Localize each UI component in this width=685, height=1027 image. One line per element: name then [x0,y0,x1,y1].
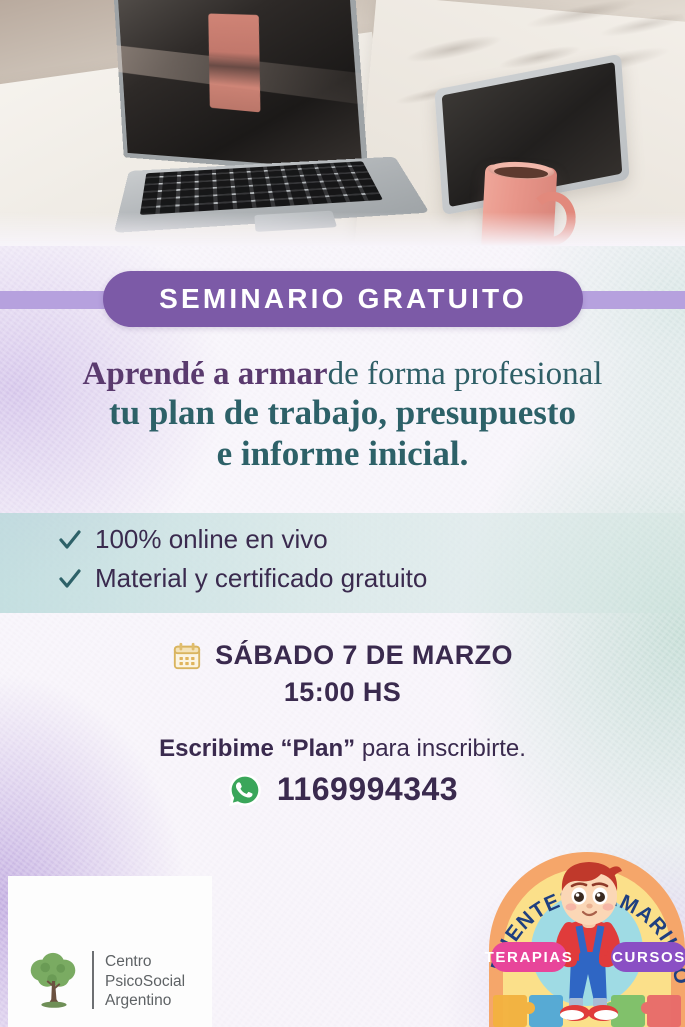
whatsapp-row[interactable]: 1169994343 [0,771,685,808]
check-icon [58,528,82,552]
check-icon [58,567,82,591]
feature-label: 100% online en vivo [95,524,328,555]
whatsapp-icon[interactable] [227,772,263,808]
logo-line-1: Centro [105,952,185,972]
headline-line-2: tu plan de trabajo, presupuesto [0,393,685,434]
list-item: 100% online en vivo [58,524,427,555]
contact-block: Escribime “Plan” para inscribirte. 11699… [0,735,685,808]
photo-fade [0,212,685,246]
time-label: 15:00 HS [0,677,685,708]
poster-root: SEMINARIO GRATUITO Aprendé a armarde for… [0,0,685,1027]
laptop-screen-content [208,13,260,112]
logo-wordmark: Centro PsicoSocial Argentino [105,952,185,1011]
headline-bold-part: Aprendé a armar [83,356,328,392]
tree-icon [22,949,84,1011]
puentes-amarillos-badge: PUENTES AMARILLOS [483,838,685,1027]
logo-line-2: PsicoSocial [105,972,185,992]
headline-line-3: e informe inicial. [0,434,685,475]
headline-block: Aprendé a armarde forma profesional tu p… [0,355,685,474]
phone-number[interactable]: 1169994343 [277,771,458,808]
badge-right-label: CURSOS [612,949,685,966]
logo-puentes-amarillos: PUENTES AMARILLOS [483,838,685,1027]
laptop-screen [113,0,368,177]
cta-line: Escribime “Plan” para inscribirte. [0,735,685,763]
date-block: SÁBADO 7 DE MARZO 15:00 HS [0,640,685,708]
feature-label: Material y certificado gratuito [95,563,427,594]
date-row: SÁBADO 7 DE MARZO [0,640,685,671]
cta-regular-part: para inscribirte. [355,735,526,762]
calendar-icon [172,641,202,671]
list-item: Material y certificado gratuito [58,563,427,594]
logo-line-3: Argentino [105,991,185,1011]
badge-left-label: TERAPIAS [485,949,574,966]
hero-photo [0,0,685,246]
laptop-icon [95,0,425,246]
seminar-banner: SEMINARIO GRATUITO [103,271,583,327]
features-list: 100% online en vivo Material y certifica… [58,524,427,594]
headline-regular-part: de forma profesional [328,356,603,392]
logo-centro-psicosocial: Centro PsicoSocial Argentino [8,876,212,1027]
banner-label: SEMINARIO GRATUITO [159,283,527,315]
logo-divider [92,951,94,1009]
cta-bold-part: Escribime “Plan” [159,735,355,762]
headline-line-1: Aprendé a armarde forma profesional [0,355,685,393]
date-label: SÁBADO 7 DE MARZO [215,640,513,671]
